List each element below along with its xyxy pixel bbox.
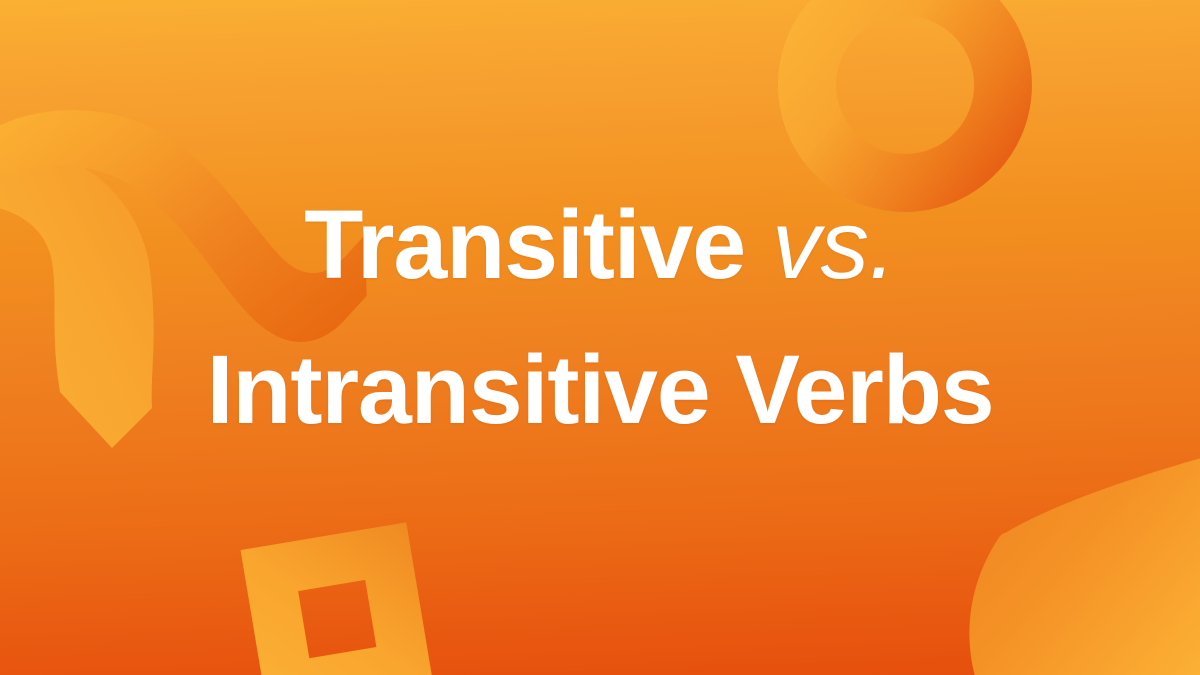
- title-line-1-main: Transitive: [304, 190, 745, 299]
- title-slide: Transitive vs. Intransitive Verbs: [0, 0, 1200, 675]
- quarter-curve-decoration: [969, 455, 1200, 675]
- title-line-1-emphasis: vs.: [745, 190, 896, 299]
- square-frame-decoration: [241, 522, 434, 675]
- title-line-2-main: Intransitive Verbs: [206, 335, 993, 444]
- title-line-2: Intransitive Verbs: [0, 341, 1200, 438]
- ring-decoration: [778, 0, 1032, 212]
- slide-title-block: Transitive vs. Intransitive Verbs: [0, 196, 1200, 438]
- title-line-1: Transitive vs.: [0, 196, 1200, 293]
